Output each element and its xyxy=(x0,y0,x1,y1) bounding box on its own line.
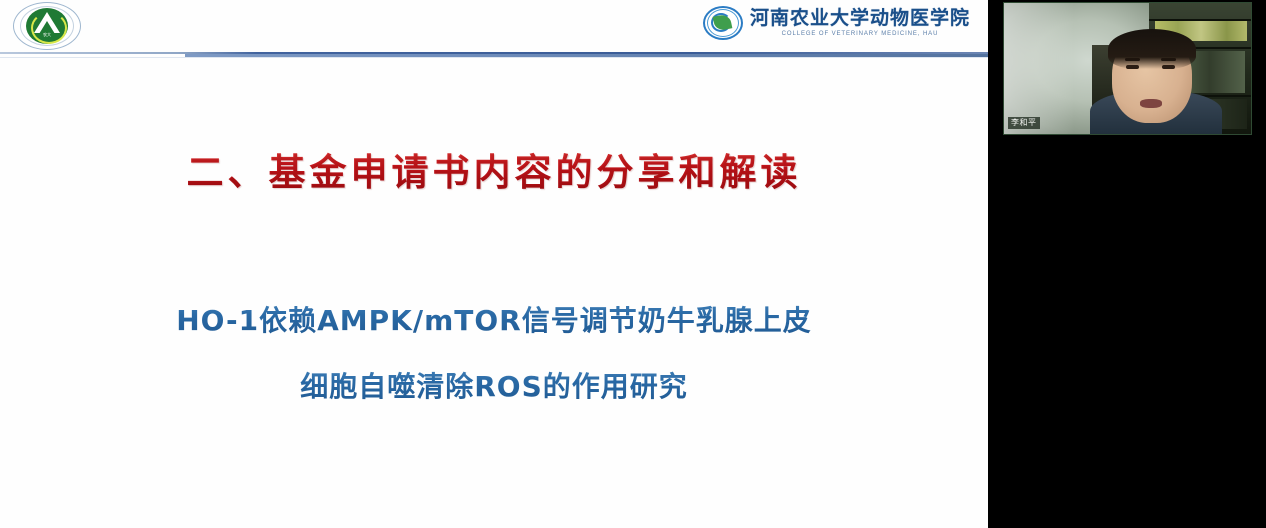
meeting-side-panel: 李和平 xyxy=(988,0,1266,528)
presentation-slide: 农大 河南农业大学动物医学院 COLLEGE OF VETERINARY MED… xyxy=(0,0,988,528)
college-branding: 河南农业大学动物医学院 COLLEGE OF VETERINARY MEDICI… xyxy=(702,4,970,42)
video-person-hair xyxy=(1108,29,1196,69)
college-name-chinese: 河南农业大学动物医学院 xyxy=(750,8,970,29)
screen-root: 农大 河南农业大学动物医学院 COLLEGE OF VETERINARY MED… xyxy=(0,0,1266,528)
slide-subtitle-line-1: HO-1依赖AMPK/mTOR信号调节奶牛乳腺上皮 xyxy=(0,288,988,354)
slide-section-title: 二、基金申请书内容的分享和解读 xyxy=(0,142,988,196)
slide-subtitle-block: HO-1依赖AMPK/mTOR信号调节奶牛乳腺上皮 细胞自噬清除ROS的作用研究 xyxy=(0,288,988,420)
video-person-eyebrow-right xyxy=(1161,58,1176,61)
video-person-mouth xyxy=(1140,99,1162,108)
seal-inner-label: 农大 xyxy=(30,32,64,37)
header-rule-soft xyxy=(0,57,988,58)
slide-header: 农大 河南农业大学动物医学院 COLLEGE OF VETERINARY MED… xyxy=(0,0,988,58)
hau-university-seal-icon: 农大 xyxy=(13,2,81,50)
video-person-eyebrow-left xyxy=(1125,58,1140,61)
veterinary-college-emblem-icon xyxy=(702,4,744,42)
college-name-english: COLLEGE OF VETERINARY MEDICINE, HAU xyxy=(750,30,970,39)
college-wordmark: 河南农业大学动物医学院 COLLEGE OF VETERINARY MEDICI… xyxy=(750,8,970,39)
participant-name-label: 李和平 xyxy=(1008,117,1040,129)
slide-subtitle-line-2: 细胞自噬清除ROS的作用研究 xyxy=(0,354,988,420)
video-window-glare xyxy=(1004,3,1074,135)
video-person-eye-left xyxy=(1126,65,1139,69)
participant-video-tile[interactable]: 李和平 xyxy=(1003,2,1252,135)
video-person-eye-right xyxy=(1162,65,1175,69)
